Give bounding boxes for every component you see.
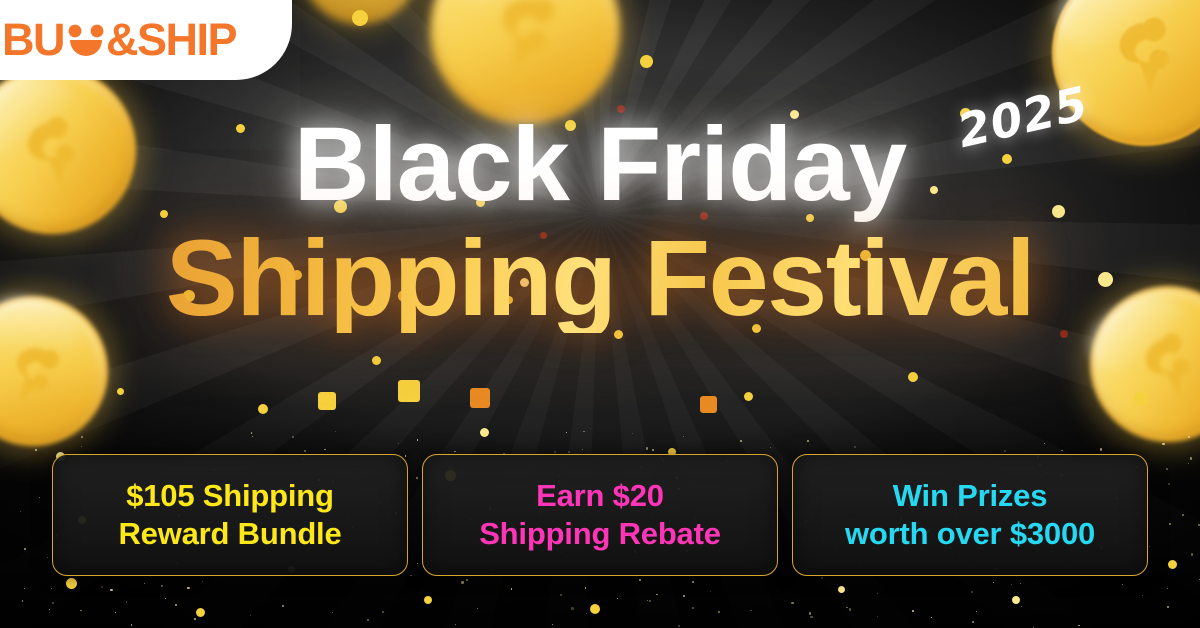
- sparkle: [332, 612, 333, 613]
- sparkle: [632, 433, 633, 434]
- sparkle: [571, 607, 573, 609]
- confetti-dot: [640, 55, 653, 68]
- sparkle: [770, 447, 771, 448]
- sparkle: [110, 589, 112, 591]
- offer-badges: $105 Shipping Reward Bundle Earn $20 Shi…: [0, 454, 1200, 576]
- sparkle: [718, 611, 720, 613]
- confetti-dot: [117, 388, 124, 395]
- sparkle: [455, 624, 456, 625]
- sparkle: [461, 581, 463, 583]
- svg-text:BU: BU: [2, 18, 64, 64]
- sparkle: [931, 617, 932, 618]
- sparkle: [304, 450, 306, 452]
- headline-block: Black Friday 2025 Shipping Festival: [0, 112, 1200, 333]
- sparkle: [971, 591, 973, 593]
- confetti-square: [470, 388, 490, 408]
- confetti-dot: [66, 578, 77, 589]
- sparkle: [292, 436, 294, 438]
- sparkle: [1044, 443, 1045, 444]
- sparkle: [652, 449, 654, 451]
- sparkle: [1033, 627, 1034, 628]
- brand-logo-panel[interactable]: BU &SHIP: [0, 0, 292, 80]
- confetti-dot: [372, 356, 381, 365]
- sparkle: [1188, 436, 1190, 438]
- sparkle: [35, 449, 37, 451]
- sparkle: [1004, 450, 1006, 452]
- headline-line-2: Shipping Festival: [166, 223, 1035, 333]
- sparkle: [877, 616, 878, 617]
- sparkle: [692, 581, 694, 583]
- svg-text:&SHIP: &SHIP: [106, 18, 237, 64]
- confetti-dot: [838, 586, 845, 593]
- confetti-square: [700, 396, 717, 413]
- sparkle: [639, 579, 641, 581]
- sparkle: [568, 451, 570, 453]
- sparkle: [251, 432, 252, 433]
- sparkle: [367, 619, 369, 621]
- confetti-square: [398, 380, 420, 402]
- confetti-dot: [480, 428, 489, 437]
- headline-line-1: Black Friday: [294, 112, 906, 217]
- sparkle: [52, 602, 54, 604]
- sparkle: [477, 608, 478, 609]
- sparkle: [466, 579, 468, 581]
- confetti-dot: [590, 604, 600, 614]
- sparkle: [1167, 606, 1169, 608]
- sparkle: [454, 451, 456, 453]
- badge-shipping-rebate[interactable]: Earn $20 Shipping Rebate: [422, 454, 778, 576]
- sparkle: [187, 587, 189, 589]
- sparkle: [1100, 448, 1102, 450]
- badge-shipping-reward-bundle[interactable]: $105 Shipping Reward Bundle: [52, 454, 408, 576]
- sparkle: [877, 593, 878, 594]
- promo-banner: BU &SHIP Black Friday 2025 Shipping Fest…: [0, 0, 1200, 628]
- confetti-dot: [1134, 392, 1148, 406]
- sparkle: [809, 612, 811, 614]
- confetti-dot: [352, 10, 368, 26]
- sparkle: [24, 588, 25, 589]
- badge-text: $105 Shipping Reward Bundle: [118, 477, 341, 553]
- sparkle: [912, 610, 914, 612]
- sparkle: [382, 611, 384, 613]
- brand-logo: BU &SHIP: [2, 18, 260, 64]
- sparkle: [49, 609, 50, 610]
- confetti-dot: [908, 372, 918, 382]
- smiley-y-icon: [69, 25, 104, 56]
- confetti-dot: [258, 404, 268, 414]
- sparkle: [849, 608, 851, 610]
- sparkle: [617, 598, 618, 599]
- confetti-dot: [424, 596, 432, 604]
- sparkle: [750, 610, 751, 611]
- sparkle: [126, 601, 127, 602]
- badge-win-prizes[interactable]: Win Prizes worth over $3000: [792, 454, 1148, 576]
- badge-text: Earn $20 Shipping Rebate: [479, 477, 721, 553]
- confetti-dot: [196, 608, 205, 617]
- confetti-square: [318, 392, 336, 410]
- sparkle: [194, 618, 196, 620]
- sparkle: [144, 583, 145, 584]
- sparkle: [552, 624, 553, 625]
- sparkle: [115, 612, 116, 613]
- buyandship-wordmark-icon: BU &SHIP: [2, 18, 260, 64]
- badge-text: Win Prizes worth over $3000: [845, 477, 1095, 553]
- confetti-dot: [744, 392, 753, 401]
- confetti-dot: [1012, 596, 1020, 604]
- sparkle: [740, 440, 742, 442]
- sparkle: [250, 615, 251, 616]
- sparkle: [566, 432, 567, 433]
